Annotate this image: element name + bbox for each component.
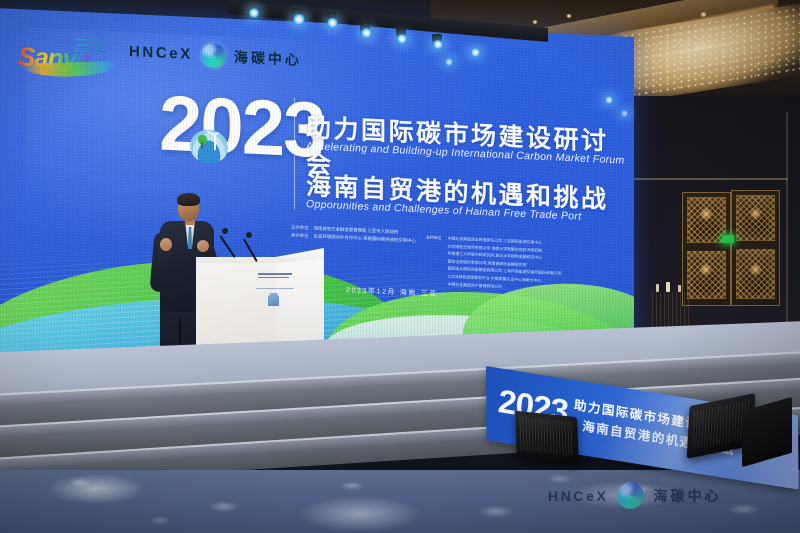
watermark-brand-cn: 海碳中心: [653, 486, 721, 506]
microphone-head-left: [222, 228, 228, 234]
speaker-grill: [519, 416, 574, 456]
ceiling-downlight: [700, 12, 707, 17]
stage-spotlight: [396, 34, 408, 44]
microphone-head-right: [246, 232, 252, 238]
side-spotlight: [604, 96, 614, 104]
podium-nameplate: [258, 273, 292, 280]
podium-logo-icon: [268, 293, 279, 306]
watermark-brand-en: HNCeX: [548, 488, 608, 504]
door-lamp-glow: [749, 263, 762, 276]
door-lamp-glow: [749, 207, 762, 220]
podium-nameplate-line: [258, 277, 289, 279]
stage-spotlight: [470, 48, 481, 57]
stage-spotlight: [432, 40, 444, 49]
speaker-hair: [177, 193, 200, 206]
wall-panel-seam: [786, 112, 788, 347]
cart-item: [656, 284, 659, 292]
stage-spotlight: [248, 8, 260, 18]
cart-item: [678, 285, 681, 292]
stage-spotlight: [360, 28, 373, 38]
stage-monitor-speaker-left: [515, 411, 579, 464]
stage-spotlight: [292, 14, 306, 25]
conference-photo: Sanya 三亚 HNCeX 海碳中心 2023 助力国际碳市场建设研讨会 Ac…: [0, 0, 800, 533]
ceiling-downlight: [646, 44, 652, 48]
cart-item: [666, 282, 670, 292]
speaker-right-hand: [197, 240, 209, 252]
stage-spotlight: [326, 18, 339, 28]
exit-sign-icon: [722, 235, 734, 243]
ceiling-downlight: [566, 14, 572, 18]
side-spotlight: [620, 110, 629, 117]
ballroom-door-left[interactable]: [682, 192, 731, 306]
door-lamp-glow: [699, 263, 712, 276]
ceiling-downlight: [532, 20, 538, 24]
podium-nameplate-subline: [256, 288, 294, 289]
speaker-left-hand: [160, 238, 172, 251]
ceiling-downlight: [748, 36, 754, 40]
watermark-orb-icon: [617, 482, 644, 509]
stage-spotlight: [444, 58, 454, 66]
hncex-watermark: HNCeX 海碳中心: [548, 482, 721, 509]
podium-nameplate-line: [258, 273, 292, 275]
door-lamp-glow: [699, 207, 713, 221]
ballroom-door-right[interactable]: [731, 190, 780, 306]
